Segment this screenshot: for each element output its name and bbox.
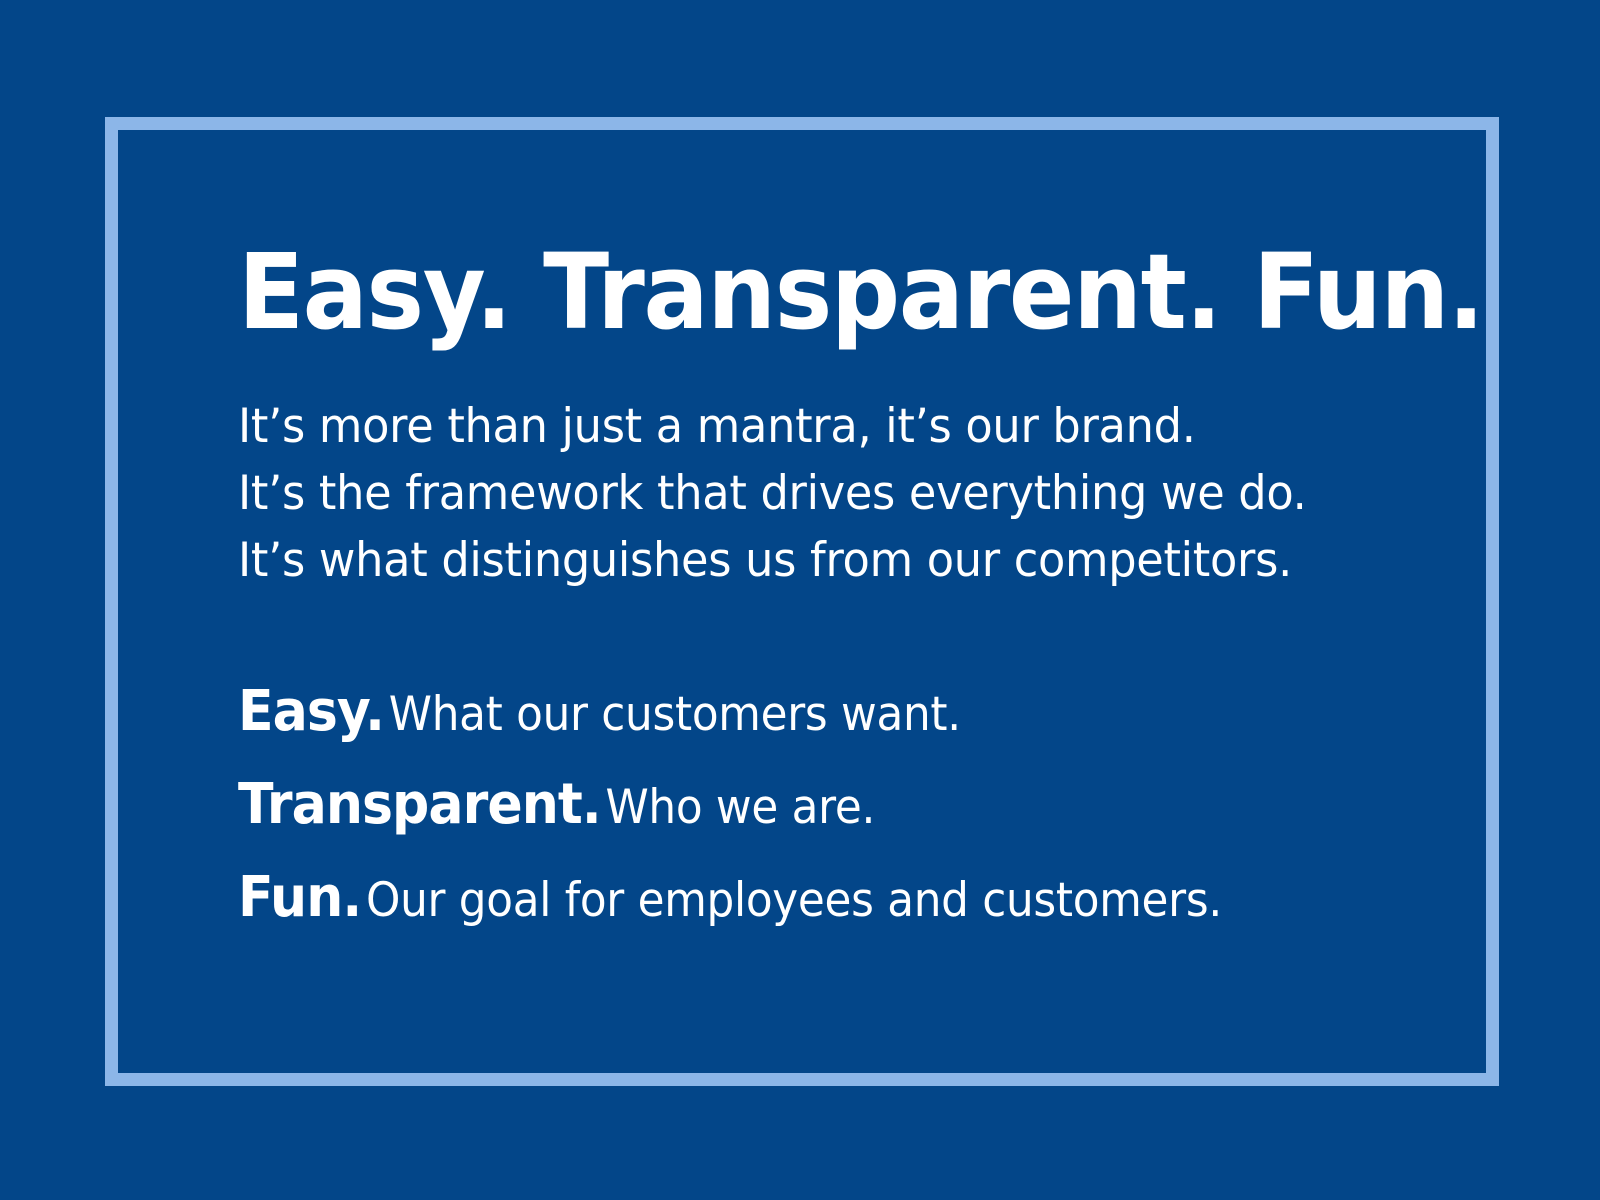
intro-paragraph: It’s more than just a mantra, it’s our b… [238,393,1418,594]
page-title: Easy. Transparent. Fun. [238,238,1335,347]
definition-term-fun: Fun. [238,865,361,930]
definitions-list: Easy. What our customers want. Transpare… [238,672,1418,951]
definition-description-fun: Our goal for employees and customers. [366,873,1222,928]
definition-item-easy: Easy. What our customers want. [238,672,1335,765]
definition-description-easy: What our customers want. [389,687,961,742]
definition-description-transparent: Who we are. [605,780,875,835]
definition-item-transparent: Transparent. Who we are. [238,765,1335,858]
definition-term-transparent: Transparent. [238,772,601,837]
intro-line-1: It’s more than just a mantra, it’s our b… [238,393,1359,460]
definition-term-easy: Easy. [238,679,384,744]
definition-item-fun: Fun. Our goal for employees and customer… [238,858,1335,951]
slide-canvas: Easy. Transparent. Fun. It’s more than j… [0,0,1600,1200]
intro-line-2: It’s the framework that drives everythin… [238,460,1359,527]
slide-content: Easy. Transparent. Fun. It’s more than j… [238,238,1418,951]
intro-line-3: It’s what distinguishes us from our comp… [238,527,1359,594]
